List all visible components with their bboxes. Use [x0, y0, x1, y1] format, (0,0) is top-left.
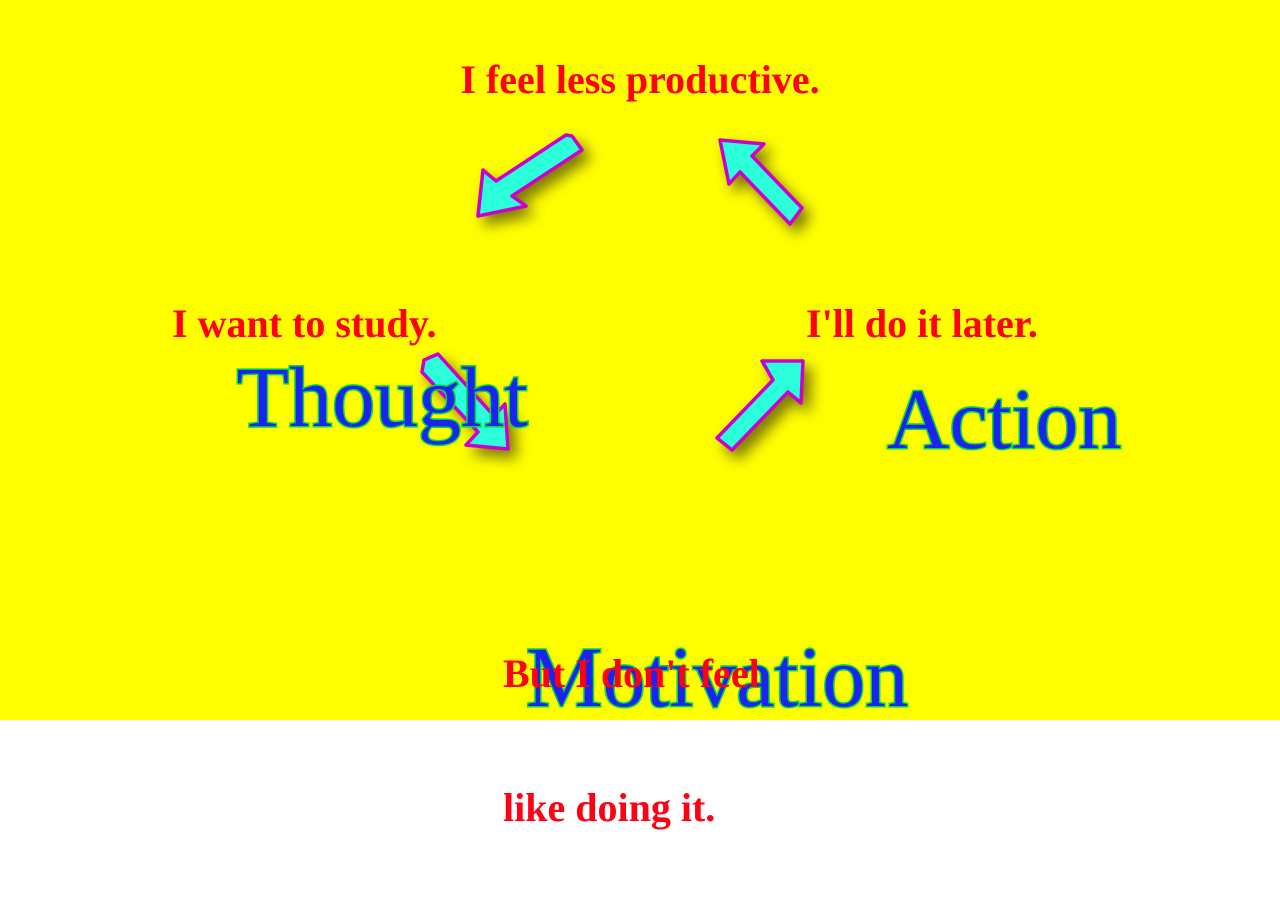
caption-thought: I want to study. [172, 302, 437, 347]
node-action-label: Action [887, 371, 1121, 467]
diagram-canvas: I feel less productive. Thought I want t… [0, 0, 1280, 720]
caption-motivation-line2: like doing it. [503, 786, 760, 831]
node-thought-shadow [152, 182, 443, 268]
node-action-shadow [806, 204, 1040, 290]
arrow-motivation-to-action-icon [706, 352, 816, 467]
caption-top-annotation: I feel less productive. [0, 58, 1280, 103]
caption-motivation-line1: But I don't feel [503, 652, 760, 697]
node-motivation-shadow [440, 462, 822, 548]
node-thought-label: Thought [236, 349, 527, 445]
arrow-action-to-annotation-icon [706, 132, 811, 242]
caption-action: I'll do it later. [806, 302, 1038, 347]
caption-motivation: But I don't feel like doing it. [503, 562, 760, 920]
